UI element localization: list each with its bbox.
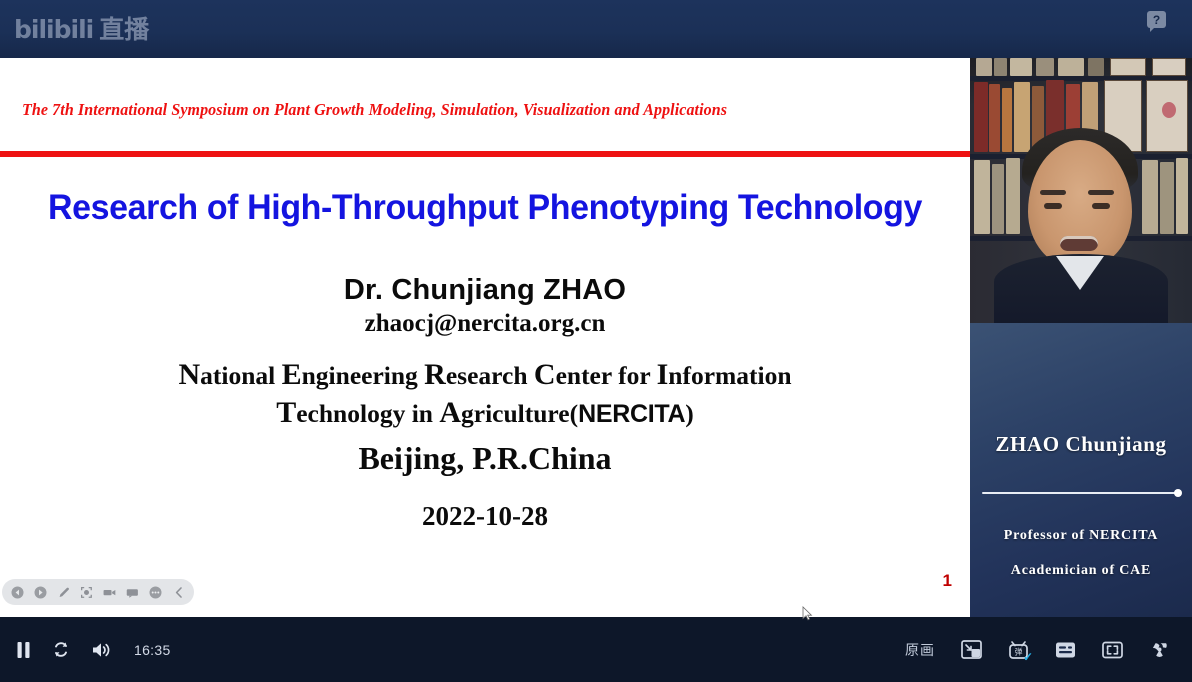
previous-slide-icon[interactable] <box>11 586 24 599</box>
book <box>974 160 990 234</box>
player-left-controls: 16:35 <box>0 640 171 659</box>
svg-text:弹: 弹 <box>1015 646 1023 656</box>
book <box>1176 158 1188 234</box>
book <box>974 82 988 152</box>
brand-cjk-text: 直播 <box>99 17 149 42</box>
more-icon[interactable] <box>149 586 162 599</box>
fullscreen-icon[interactable] <box>1149 640 1170 659</box>
speaker-brow <box>1040 190 1066 195</box>
book <box>992 164 1004 234</box>
player-control-bar: 16:35 原画 弹 ✓ <box>0 617 1192 682</box>
speaker-name: Dr. Chunjiang ZHAO <box>0 274 970 307</box>
top-bar: bilibili 直播 ? <box>0 0 1192 58</box>
speaker-eye <box>1044 203 1062 209</box>
slide-main-title: Research of High-Throughput Phenotyping … <box>15 188 956 228</box>
volume-icon[interactable] <box>91 641 111 659</box>
danmaku-toggle-icon[interactable]: 弹 ✓ <box>1008 640 1029 660</box>
help-icon[interactable]: ? <box>1147 11 1166 28</box>
speaker-brow <box>1088 190 1114 195</box>
book <box>1058 58 1084 76</box>
live-stream-player: bilibili 直播 ? The 7th International Symp… <box>0 0 1192 682</box>
book <box>994 58 1007 76</box>
speaker-card-role-2: Academician of CAE <box>970 563 1192 579</box>
affiliation-line-1: National Engineering Research Center for… <box>0 356 970 394</box>
speaker-info-card: ZHAO Chunjiang Professor of NERCITA Acad… <box>970 323 1192 617</box>
slide-toolbar[interactable] <box>2 579 194 605</box>
book <box>1142 160 1158 234</box>
presentation-slide[interactable]: The 7th International Symposium on Plant… <box>0 58 970 617</box>
stage-area: The 7th International Symposium on Plant… <box>0 58 1192 617</box>
refresh-icon[interactable] <box>52 640 70 659</box>
speaker-eye <box>1092 203 1110 209</box>
speaker-card-divider <box>982 492 1180 494</box>
shelf-artwork <box>1110 58 1146 76</box>
artwork-motif <box>1162 102 1176 118</box>
picture-in-picture-icon[interactable] <box>961 640 982 659</box>
help-label: ? <box>1153 14 1160 26</box>
speaker-card-role-1: Professor of NERCITA <box>970 528 1192 544</box>
web-fullscreen-icon[interactable] <box>1102 641 1123 659</box>
shelf-artwork <box>1152 58 1186 76</box>
book <box>1036 58 1054 76</box>
brand-latin-text: bilibili <box>14 17 93 42</box>
book <box>989 84 1000 152</box>
camera-icon[interactable] <box>103 586 116 599</box>
acronym-nercita: NERCITA <box>578 400 685 428</box>
danmaku-check-icon: ✓ <box>1023 651 1033 663</box>
subtitle-icon[interactable] <box>1055 641 1076 659</box>
book <box>1010 58 1032 76</box>
comment-icon[interactable] <box>126 586 139 599</box>
quality-selector[interactable]: 原画 <box>905 640 935 660</box>
book <box>1002 88 1012 152</box>
speaker-webcam-feed[interactable] <box>970 58 1192 323</box>
book <box>1014 82 1030 152</box>
stream-time: 16:35 <box>134 642 171 658</box>
laser-pointer-icon[interactable] <box>80 586 93 599</box>
pen-icon[interactable] <box>57 586 70 599</box>
slide-header: The 7th International Symposium on Plant… <box>0 100 970 120</box>
date-line: 2022-10-28 <box>0 501 970 532</box>
slide-page-number: 1 <box>943 571 952 591</box>
book <box>976 58 992 76</box>
affiliation: National Engineering Research Center for… <box>0 356 970 433</box>
book <box>1160 162 1174 234</box>
slide-divider-rule <box>0 151 970 157</box>
symposium-title: The 7th International Symposium on Plant… <box>22 100 920 120</box>
affiliation-line-2: Technology in Agriculture(NERCITA) <box>0 394 970 432</box>
collapse-chevron-icon[interactable] <box>172 586 185 599</box>
city-line: Beijing, P.R.China <box>0 440 970 477</box>
speaker-card-name: ZHAO Chunjiang <box>970 432 1192 457</box>
right-column: ZHAO Chunjiang Professor of NERCITA Acad… <box>970 58 1192 617</box>
player-right-controls: 原画 弹 ✓ <box>905 640 1170 660</box>
book <box>1088 58 1104 76</box>
play-slide-icon[interactable] <box>34 586 47 599</box>
speaker-email: zhaocj@nercita.org.cn <box>0 310 970 338</box>
bilibili-live-logo[interactable]: bilibili 直播 <box>14 14 149 44</box>
divider-knob <box>1174 489 1182 497</box>
book <box>1006 158 1020 234</box>
speaker-mouth <box>1060 236 1098 251</box>
pause-button[interactable] <box>16 641 31 659</box>
